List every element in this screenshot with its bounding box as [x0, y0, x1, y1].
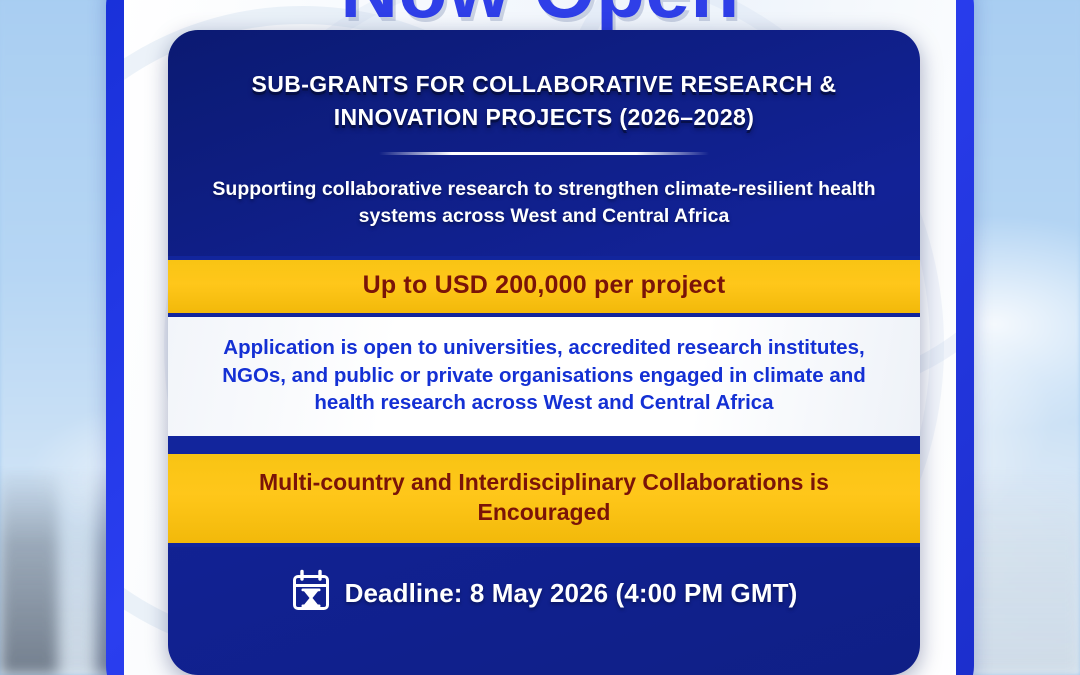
announcement-card: SUB-GRANTS FOR COLLABORATIVE RESEARCH & …	[168, 30, 920, 675]
funding-amount-band: Up to USD 200,000 per project	[168, 256, 920, 317]
deadline-row: Deadline: 8 May 2026 (4:00 PM GMT)	[168, 547, 920, 618]
eligibility-band: Application is open to universities, acc…	[168, 317, 920, 450]
calendar-hourglass-icon	[291, 569, 331, 618]
grant-subtitle: Supporting collaborative research to str…	[168, 155, 920, 229]
grant-title: SUB-GRANTS FOR COLLABORATIVE RESEARCH & …	[168, 30, 920, 133]
poster-canvas: Now Open SUB-GRANTS FOR COLLABORATIVE RE…	[0, 0, 1080, 675]
collaboration-band: Multi-country and Interdisciplinary Coll…	[168, 450, 920, 547]
deadline-text: Deadline: 8 May 2026 (4:00 PM GMT)	[345, 578, 798, 609]
